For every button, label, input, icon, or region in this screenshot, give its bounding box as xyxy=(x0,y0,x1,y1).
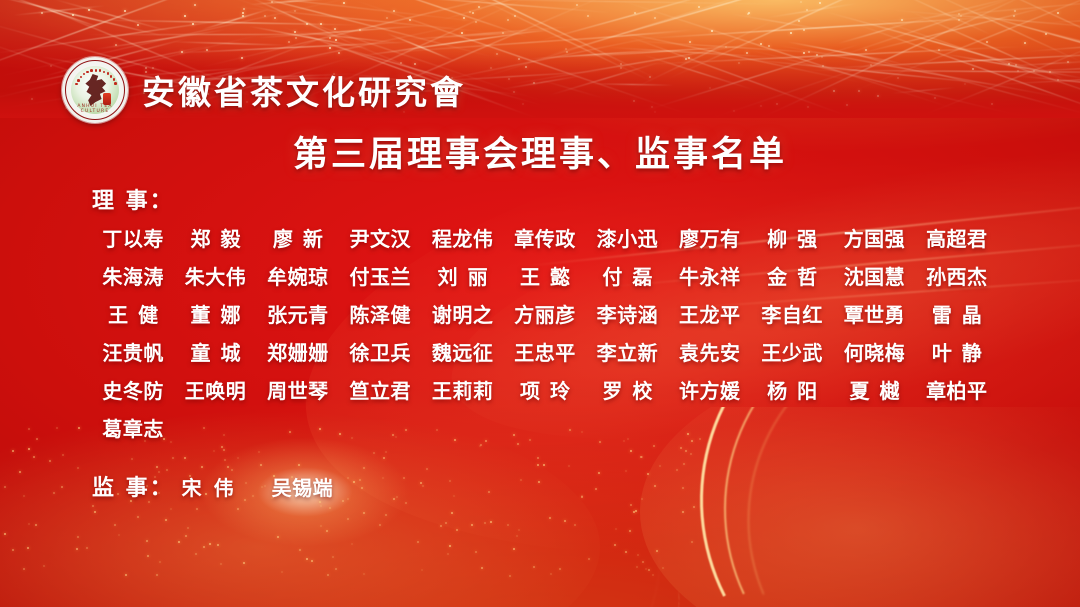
director-name: 雷晶 xyxy=(916,300,998,330)
gold-speck xyxy=(4,486,6,488)
gold-speck xyxy=(682,511,684,513)
director-name: 付磊 xyxy=(586,262,668,292)
director-name: 章传政 xyxy=(504,224,586,254)
gold-speck xyxy=(456,529,458,531)
gold-speck xyxy=(306,558,308,560)
gold-speck xyxy=(94,511,96,513)
gold-speck xyxy=(635,510,637,512)
supervisors-section: 监 事： 宋伟吴锡端 xyxy=(92,470,998,503)
gold-speck xyxy=(33,456,35,458)
director-name: 廖万有 xyxy=(669,224,751,254)
gold-speck xyxy=(78,427,80,429)
gold-speck xyxy=(12,549,14,551)
gold-speck xyxy=(195,553,197,555)
gold-speck xyxy=(347,518,349,520)
gold-speck xyxy=(633,511,635,513)
director-name: 王忠平 xyxy=(504,338,586,368)
gold-speck xyxy=(326,530,328,532)
director-name: 覃世勇 xyxy=(833,300,915,330)
director-name: 王龙平 xyxy=(669,300,751,330)
gold-speck xyxy=(363,573,365,575)
gold-speck xyxy=(449,545,451,547)
director-name: 方丽彦 xyxy=(504,300,586,330)
director-name: 李自红 xyxy=(751,300,833,330)
roster: 理 事： 丁以寿郑毅廖新尹文汉程龙伟章传政漆小迅廖万有柳强方国强高超君朱海涛朱大… xyxy=(92,183,998,503)
gold-speck xyxy=(481,567,483,569)
director-name: 童城 xyxy=(174,338,256,368)
page-title: 第三届理事会理事、监事名单 xyxy=(0,126,1080,177)
director-name: 李立新 xyxy=(586,338,668,368)
gold-speck xyxy=(385,514,387,516)
director-name: 魏远征 xyxy=(421,338,503,368)
director-name: 朱海涛 xyxy=(92,262,174,292)
association-logo-icon: ANHUI TEA CULTURE xyxy=(62,57,128,123)
director-name: 章柏平 xyxy=(916,376,998,406)
director-name: 付玉兰 xyxy=(339,262,421,292)
gold-speck xyxy=(625,551,627,553)
gold-speck xyxy=(629,530,631,532)
director-name: 漆小迅 xyxy=(586,224,668,254)
director-name: 郑毅 xyxy=(174,224,256,254)
gold-speck xyxy=(76,548,78,550)
gold-speck xyxy=(693,506,695,508)
director-name: 朱大伟 xyxy=(174,262,256,292)
director-name: 牛永祥 xyxy=(669,262,751,292)
director-name: 丁以寿 xyxy=(92,224,174,254)
gold-speck xyxy=(35,524,37,526)
director-name: 笪立君 xyxy=(339,376,421,406)
gold-speck xyxy=(277,536,279,538)
director-name: 项玲 xyxy=(504,376,586,406)
logo-bottom-text: ANHUI TEA CULTURE xyxy=(62,104,128,114)
gold-speck xyxy=(550,573,552,575)
director-name: 沈国慧 xyxy=(833,262,915,292)
director-name: 廖新 xyxy=(257,224,339,254)
director-name: 柳强 xyxy=(751,224,833,254)
director-name: 夏樾 xyxy=(833,376,915,406)
gold-speck xyxy=(23,568,25,570)
director-name: 孙西杰 xyxy=(916,262,998,292)
director-name: 周世琴 xyxy=(257,376,339,406)
director-name: 叶静 xyxy=(916,338,998,368)
supervisor-name: 宋伟 xyxy=(178,473,246,503)
director-name: 许方媛 xyxy=(669,376,751,406)
gold-speck xyxy=(243,562,245,564)
director-name: 刘丽 xyxy=(421,262,503,292)
director-name: 史冬防 xyxy=(92,376,174,406)
director-name: 王唤明 xyxy=(174,376,256,406)
director-name: 金哲 xyxy=(751,262,833,292)
gold-speck xyxy=(77,467,79,469)
director-name: 王懿 xyxy=(504,262,586,292)
director-name: 王莉莉 xyxy=(421,376,503,406)
director-name: 徐卫兵 xyxy=(339,338,421,368)
gold-speck xyxy=(379,524,381,526)
gold-speck xyxy=(170,508,172,510)
director-name: 王少武 xyxy=(751,338,833,368)
gold-speck xyxy=(28,523,30,525)
director-name: 葛章志 xyxy=(92,414,174,444)
director-name: 牟婉琼 xyxy=(257,262,339,292)
gold-speck xyxy=(574,524,576,526)
director-name: 王健 xyxy=(92,300,174,330)
director-name: 袁先安 xyxy=(669,338,751,368)
director-name: 谢明之 xyxy=(421,300,503,330)
supervisor-name: 吴锡端 xyxy=(272,473,334,503)
director-name: 李诗涵 xyxy=(586,300,668,330)
directors-section-label: 理 事： xyxy=(92,183,998,215)
supervisors-name-list: 宋伟吴锡端 xyxy=(178,473,334,503)
gold-speck xyxy=(62,454,64,456)
gold-speck xyxy=(615,528,617,530)
director-name: 高超君 xyxy=(916,224,998,254)
director-name: 董娜 xyxy=(174,300,256,330)
director-name: 杨阳 xyxy=(751,376,833,406)
director-name: 罗校 xyxy=(586,376,668,406)
gold-speck xyxy=(656,550,658,552)
director-name: 尹文汉 xyxy=(339,224,421,254)
gold-speck xyxy=(281,571,283,573)
brand-header: ANHUI TEA CULTURE 安徽省茶文化研究會 xyxy=(62,57,466,123)
gold-speck xyxy=(652,574,654,576)
gold-speck xyxy=(178,541,180,543)
director-name: 张元青 xyxy=(257,300,339,330)
director-name: 陈泽健 xyxy=(339,300,421,330)
gold-speck xyxy=(125,574,127,576)
director-name: 汪贵帆 xyxy=(92,338,174,368)
director-name: 何晓梅 xyxy=(833,338,915,368)
gold-speck xyxy=(61,486,63,488)
gold-speck xyxy=(471,524,473,526)
slide-canvas: ANHUI TEA CULTURE 安徽省茶文化研究會 第三届理事会理事、监事名… xyxy=(0,0,1080,607)
gold-speck xyxy=(114,524,116,526)
gold-speck xyxy=(335,568,337,570)
gold-speck xyxy=(614,544,616,546)
gold-speck xyxy=(588,558,590,560)
gold-speck xyxy=(509,575,511,577)
director-name: 郑姗姗 xyxy=(257,338,339,368)
director-name: 方国强 xyxy=(833,224,915,254)
gold-speck xyxy=(209,543,211,545)
directors-name-grid: 丁以寿郑毅廖新尹文汉程龙伟章传政漆小迅廖万有柳强方国强高超君朱海涛朱大伟牟婉琼付… xyxy=(92,224,998,444)
gold-speck xyxy=(513,548,515,550)
gold-speck xyxy=(146,540,148,542)
director-name: 程龙伟 xyxy=(421,224,503,254)
gold-speck xyxy=(691,541,693,543)
gold-speck xyxy=(642,561,644,563)
supervisors-section-label: 监 事： xyxy=(92,470,174,502)
organization-name: 安徽省茶文化研究會 xyxy=(142,66,466,114)
gold-speck xyxy=(4,533,6,535)
